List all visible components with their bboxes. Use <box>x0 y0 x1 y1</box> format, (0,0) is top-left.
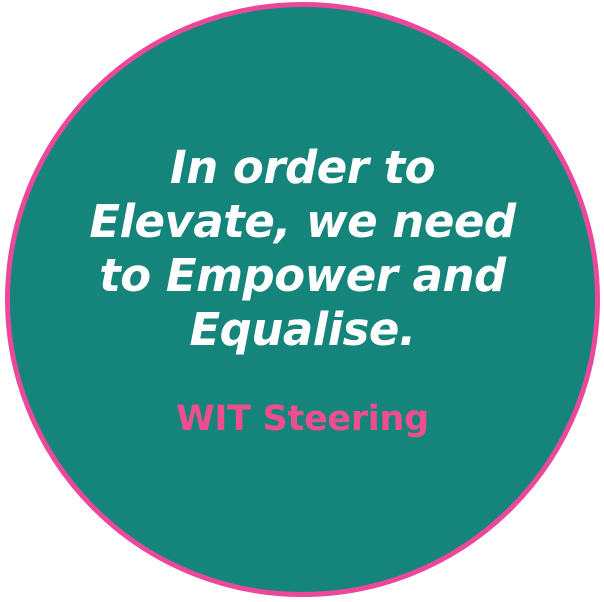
quote-line-1: In order to <box>83 141 523 195</box>
poster-canvas: In order to Elevate, we need to Empower … <box>0 0 604 602</box>
quote-attribution: WIT Steering <box>176 399 429 439</box>
quote-circle: In order to Elevate, we need to Empower … <box>5 2 600 597</box>
quote-line-4: Equalise. <box>83 303 523 357</box>
quote-text: In order to Elevate, we need to Empower … <box>83 141 523 357</box>
quote-line-3: to Empower and <box>83 249 523 303</box>
quote-line-2: Elevate, we need <box>83 195 523 249</box>
